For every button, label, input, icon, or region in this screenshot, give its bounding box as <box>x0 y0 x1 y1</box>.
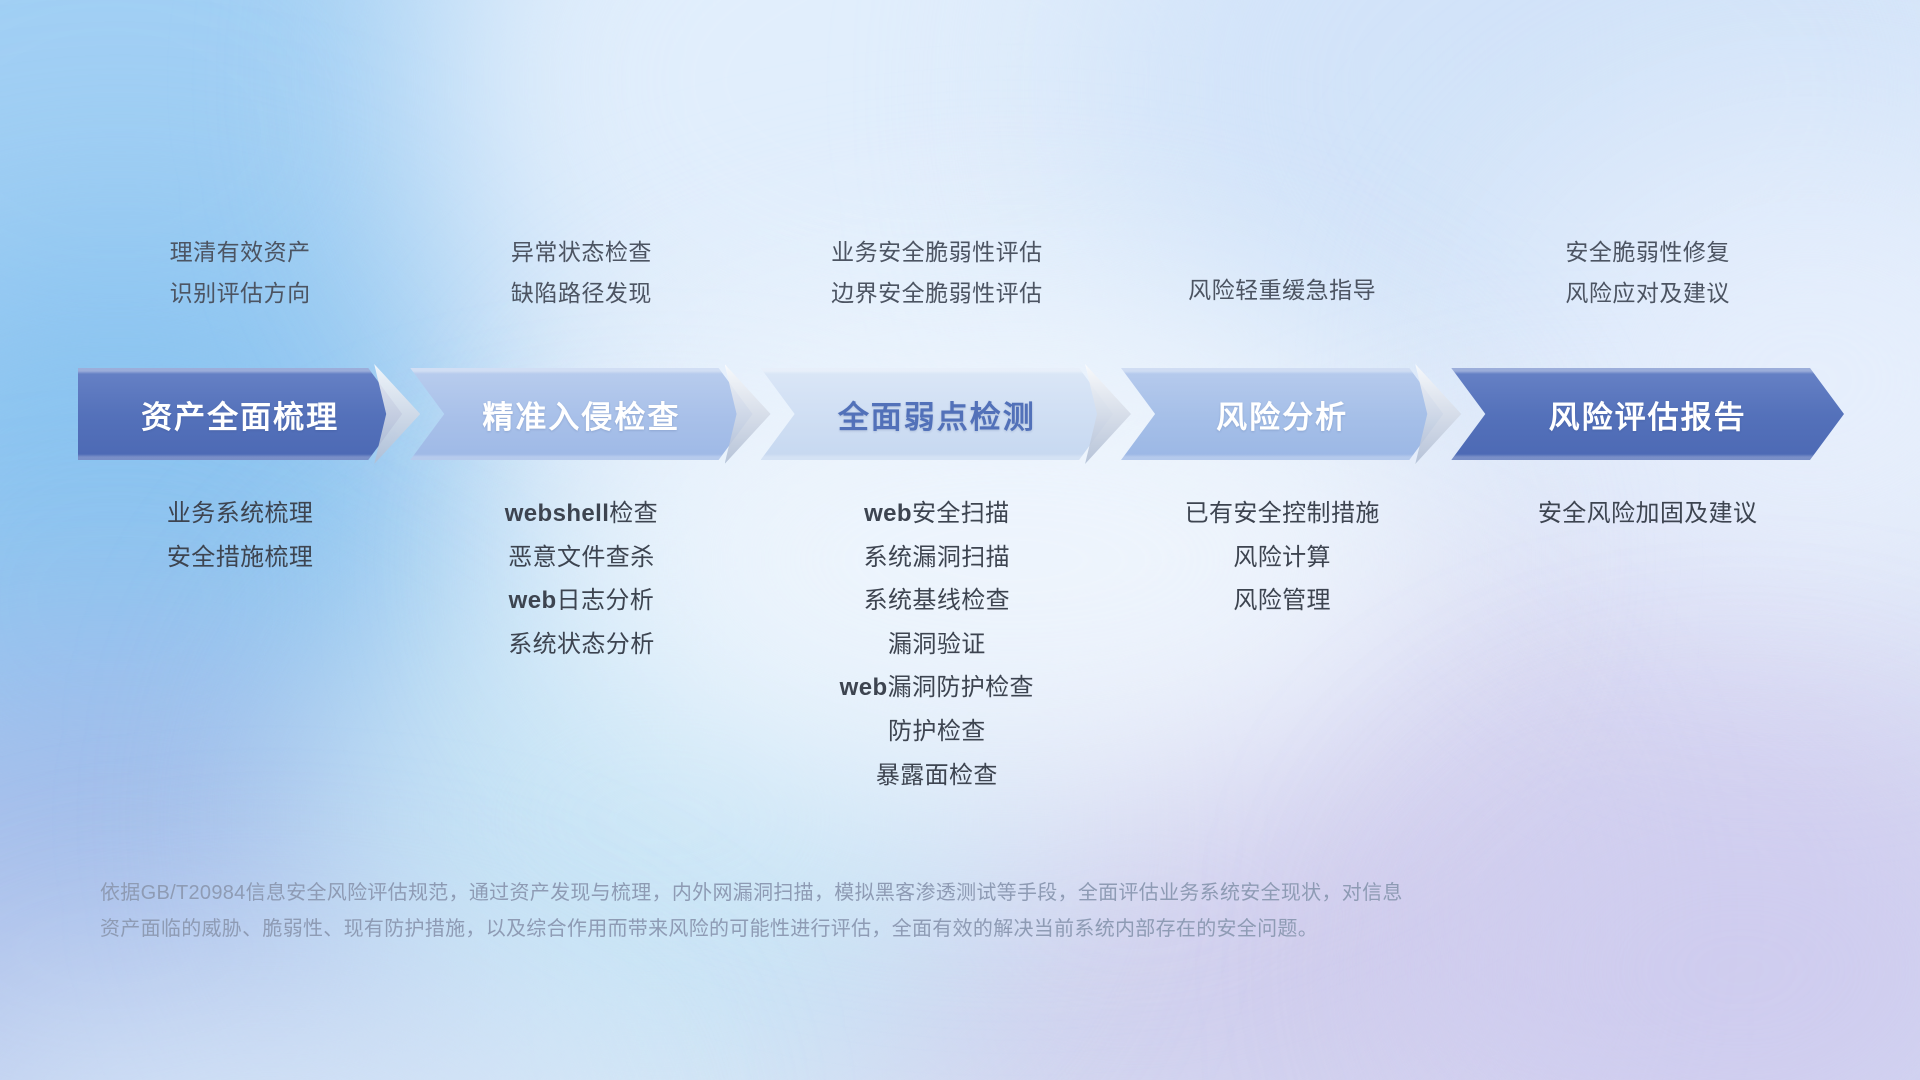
top-annotations-row: 理清有效资产识别评估方向异常状态检查缺陷路径发现业务安全脆弱性评估边界安全脆弱性… <box>78 240 1842 340</box>
detail-item-cn: 漏洞防护检查 <box>888 674 1034 701</box>
detail-item-cn: 检查 <box>609 500 658 527</box>
process-chevron-band: 资产全面梳理精准入侵检查全面弱点检测风险分析风险评估报告 <box>78 368 1844 460</box>
top-note: 边界安全脆弱性评估 <box>831 281 1043 306</box>
slide-canvas: 理清有效资产识别评估方向异常状态检查缺陷路径发现业务安全脆弱性评估边界安全脆弱性… <box>0 0 1920 1080</box>
detail-item: 系统基线检查 <box>864 587 1010 615</box>
footer-description: 依据GB/T20984信息安全风险评估规范，通过资产发现与梳理，内外网漏洞扫描，… <box>100 875 1740 947</box>
detail-item-cn: 安全风险加固及建议 <box>1538 500 1758 527</box>
detail-item-cn: 系统状态分析 <box>508 631 654 658</box>
process-step-assessment-report[interactable]: 风险评估报告 <box>1451 368 1844 460</box>
process-step-weakness-detection[interactable]: 全面弱点检测 <box>761 368 1113 460</box>
detail-item: 风险管理 <box>1233 587 1331 615</box>
detail-item-cn: 业务系统梳理 <box>167 500 313 527</box>
detail-item-en: web <box>509 587 557 614</box>
detail-item: web漏洞防护检查 <box>840 674 1034 702</box>
detail-item-cn: 漏洞验证 <box>888 631 986 658</box>
process-step-asset-inventory[interactable]: 资产全面梳理 <box>78 368 402 460</box>
detail-item-cn: 日志分析 <box>557 587 655 614</box>
process-step-label: 风险评估报告 <box>1549 392 1747 437</box>
detail-list-assessment-report: 安全风险加固及建议 <box>1398 500 1898 528</box>
process-step-label: 全面弱点检测 <box>838 392 1036 437</box>
footer-line-2: 资产面临的威胁、脆弱性、现有防护措施，以及综合作用而带来风险的可能性进行评估，全… <box>100 911 1740 947</box>
detail-item: 安全风险加固及建议 <box>1538 500 1758 528</box>
detail-item: 恶意文件查杀 <box>508 544 654 572</box>
detail-item-cn: 已有安全控制措施 <box>1185 500 1380 527</box>
top-note: 缺陷路径发现 <box>511 281 652 306</box>
detail-item-en: web <box>840 674 888 701</box>
detail-item: 防护检查 <box>888 718 986 746</box>
process-step-risk-analysis[interactable]: 风险分析 <box>1121 368 1443 460</box>
top-note: 理清有效资产 <box>170 240 311 265</box>
top-note: 风险轻重缓急指导 <box>1188 278 1376 303</box>
top-note: 异常状态检查 <box>511 240 652 265</box>
detail-item: webshell检查 <box>505 500 658 528</box>
detail-item-en: webshell <box>505 500 610 527</box>
detail-item-cn: 防护检查 <box>888 718 986 745</box>
footer-line-1: 依据GB/T20984信息安全风险评估规范，通过资产发现与梳理，内外网漏洞扫描，… <box>100 875 1740 911</box>
process-step-intrusion-check[interactable]: 精准入侵检查 <box>410 368 752 460</box>
detail-item: 风险计算 <box>1233 544 1331 572</box>
detail-item-cn: 系统漏洞扫描 <box>864 544 1010 571</box>
detail-item: 已有安全控制措施 <box>1185 500 1380 528</box>
detail-item-cn: 风险管理 <box>1233 587 1331 614</box>
top-note: 安全脆弱性修复 <box>1565 240 1730 265</box>
detail-item: 漏洞验证 <box>888 631 986 659</box>
process-step-label: 精准入侵检查 <box>482 392 680 437</box>
detail-item-cn: 风险计算 <box>1233 544 1331 571</box>
detail-item: 安全措施梳理 <box>167 544 313 572</box>
detail-item-cn: 系统基线检查 <box>864 587 1010 614</box>
detail-item: web日志分析 <box>509 587 655 615</box>
detail-item: 暴露面检查 <box>876 762 998 790</box>
top-note: 识别评估方向 <box>170 281 311 306</box>
detail-item: web安全扫描 <box>864 500 1010 528</box>
detail-item: 系统漏洞扫描 <box>864 544 1010 572</box>
detail-item: 系统状态分析 <box>508 631 654 659</box>
top-notes-assessment-report: 安全脆弱性修复风险应对及建议 <box>1398 240 1898 307</box>
top-note: 业务安全脆弱性评估 <box>831 240 1043 265</box>
detail-item-cn: 安全扫描 <box>912 500 1010 527</box>
detail-item-cn: 恶意文件查杀 <box>508 544 654 571</box>
detail-item-cn: 暴露面检查 <box>876 762 998 789</box>
process-step-label: 风险分析 <box>1216 392 1348 437</box>
top-note: 风险应对及建议 <box>1565 281 1730 306</box>
detail-item: 业务系统梳理 <box>167 500 313 528</box>
detail-item-en: web <box>864 500 912 527</box>
detail-item-cn: 安全措施梳理 <box>167 544 313 571</box>
process-step-label: 资产全面梳理 <box>141 392 339 437</box>
